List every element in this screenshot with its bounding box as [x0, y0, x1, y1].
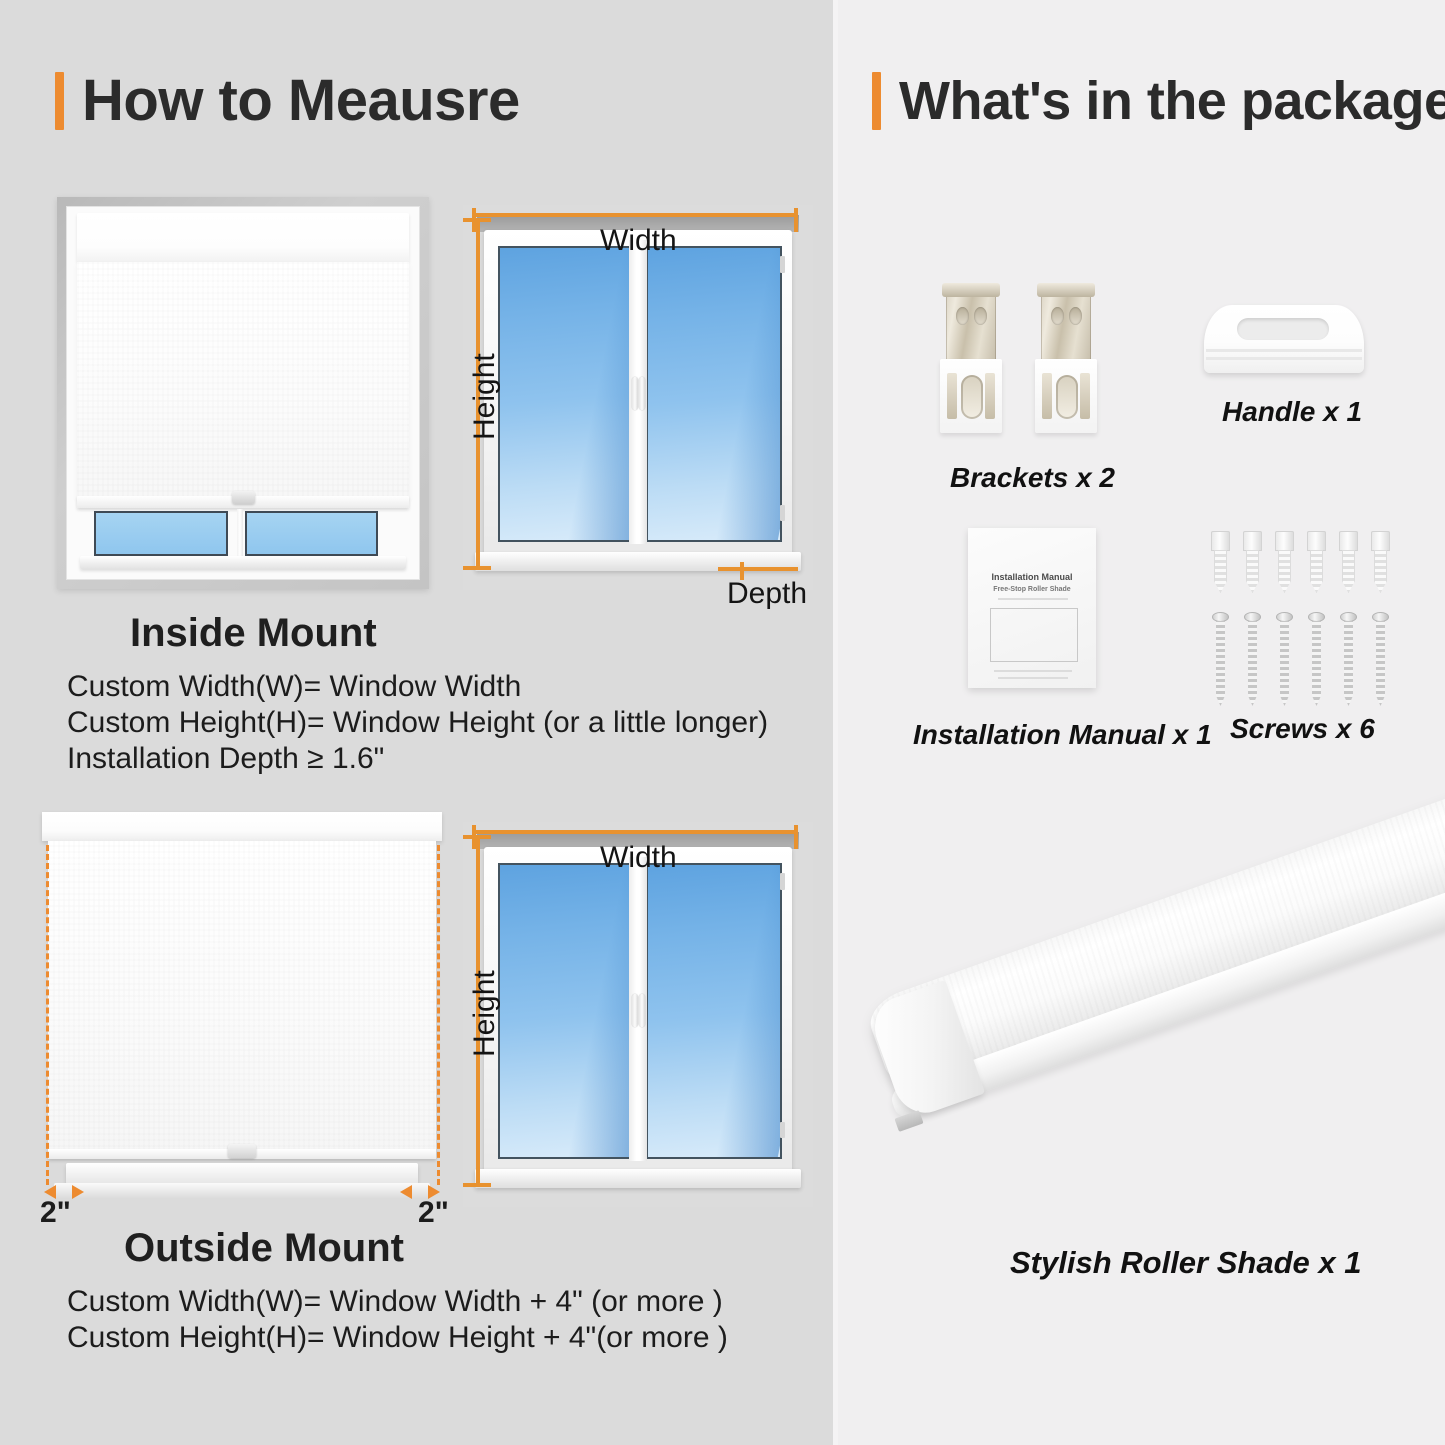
screw-icon [1212, 612, 1229, 706]
bracket-icon [940, 283, 1002, 433]
window-pane-left-2 [498, 863, 634, 1158]
overhang-guide-right [437, 845, 440, 1185]
window-pane-right-2 [646, 863, 782, 1158]
window-handle-left-icon [632, 377, 638, 410]
wall-anchor-icon [1211, 531, 1230, 593]
window-handle-right-icon [639, 377, 645, 410]
how-to-measure-heading: How to Meausre [55, 72, 520, 130]
height-label-inside: Height [468, 353, 502, 440]
inside-spec-line-1: Custom Width(W)= Window Width [67, 670, 521, 704]
shade-pull-tab [232, 491, 255, 504]
window-hinge-bottom-2 [780, 1122, 785, 1138]
screw-icon-5 [1340, 612, 1357, 706]
inside-spec-line-2: Custom Height(H)= Window Height (or a li… [67, 706, 768, 740]
glass-pane-right [245, 511, 378, 556]
manual-label: Installation Manual x 1 [913, 719, 1212, 751]
window-hinge-top [780, 256, 785, 272]
outside-pull-tab [228, 1144, 256, 1157]
inside-mount-shade-illustration [57, 197, 429, 589]
width-dim-line-2 [472, 830, 798, 834]
manual-icon: Installation Manual Free-Stop Roller Sha… [968, 528, 1096, 688]
roller-shade-icon [918, 900, 1438, 1200]
screw-icon-6 [1372, 612, 1389, 706]
window-pane-right [646, 246, 782, 541]
depth-dim-line [718, 567, 798, 571]
window-center-mullion-2 [629, 857, 647, 1161]
shade-fabric [77, 262, 410, 498]
width-dim-cap-right-2 [794, 825, 798, 849]
heading-right-text: What's in the package [899, 74, 1445, 128]
valance [77, 213, 410, 262]
outside-mount-shade-illustration [42, 812, 442, 1202]
height-dim-cap-bottom-2 [463, 1183, 491, 1187]
glass-pane-left [94, 511, 227, 556]
manual-cover-subtitle: Free-Stop Roller Shade [968, 586, 1096, 593]
outside-window-sill [66, 1163, 418, 1184]
manual-cover-title: Installation Manual [968, 572, 1096, 582]
outside-mount-title: Outside Mount [124, 1226, 404, 1271]
outside-window-ledge [54, 1183, 430, 1199]
overhang-label-left: 2" [40, 1196, 71, 1230]
outside-mount-window-diagram [463, 822, 813, 1207]
wall-anchor-icon-2 [1243, 531, 1262, 593]
heading-left-text: How to Meausre [82, 72, 520, 130]
height-dim-cap-top-2 [463, 835, 491, 839]
width-dim-line [472, 213, 798, 217]
window-frame-2 [484, 847, 792, 1174]
screws-label: Screws x 6 [1230, 713, 1375, 745]
roller-shade-label: Stylish Roller Shade x 1 [1010, 1245, 1361, 1281]
accent-bar-icon [55, 72, 64, 130]
height-label-outside: Height [468, 970, 502, 1057]
window-sill [80, 556, 406, 569]
wall-anchor-icon-3 [1275, 531, 1294, 593]
window-handle-right-icon-2 [639, 994, 645, 1027]
brackets-label: Brackets x 2 [950, 462, 1115, 494]
wall-anchor-icon-6 [1371, 531, 1390, 593]
overhang-guide-left [46, 845, 49, 1185]
window-hinge-bottom [780, 505, 785, 521]
overhang-label-right: 2" [418, 1196, 449, 1230]
width-dim-cap-right [794, 208, 798, 232]
wall-anchor-icon-4 [1307, 531, 1326, 593]
inside-mount-window-diagram [463, 205, 813, 590]
handle-label: Handle x 1 [1222, 396, 1362, 428]
screw-icon-4 [1308, 612, 1325, 706]
screw-icon-2 [1244, 612, 1261, 706]
window-frame [484, 230, 792, 557]
height-dim-cap-bottom [463, 566, 491, 570]
screw-icon-3 [1276, 612, 1293, 706]
height-dim-cap-top [463, 218, 491, 222]
window-pane-left [498, 246, 634, 541]
window-sill-bottom-2 [475, 1169, 801, 1188]
inside-spec-line-3: Installation Depth ≥ 1.6" [67, 742, 384, 776]
window-handle-left-icon-2 [632, 994, 638, 1027]
window-hinge-top-2 [780, 873, 785, 889]
infographic-page: How to Meausre [0, 0, 1445, 1445]
package-heading: What's in the package [872, 72, 1445, 130]
outside-shade-fabric [48, 841, 436, 1153]
outside-spec-line-2: Custom Height(H)= Window Height + 4"(or … [67, 1321, 728, 1355]
inside-mount-title: Inside Mount [130, 611, 377, 656]
wall-anchor-icon-5 [1339, 531, 1358, 593]
width-label-inside: Width [600, 224, 677, 258]
window-mullion [237, 509, 243, 558]
outside-headrail [42, 812, 442, 841]
handle-icon [1204, 305, 1364, 373]
width-label-outside: Width [600, 841, 677, 875]
bracket-icon-2 [1035, 283, 1097, 433]
depth-label-inside: Depth [727, 577, 807, 611]
shade-window-inner [66, 206, 420, 580]
window-center-mullion [629, 240, 647, 544]
outside-spec-line-1: Custom Width(W)= Window Width + 4" (or m… [67, 1285, 723, 1319]
accent-bar-icon-2 [872, 72, 881, 130]
